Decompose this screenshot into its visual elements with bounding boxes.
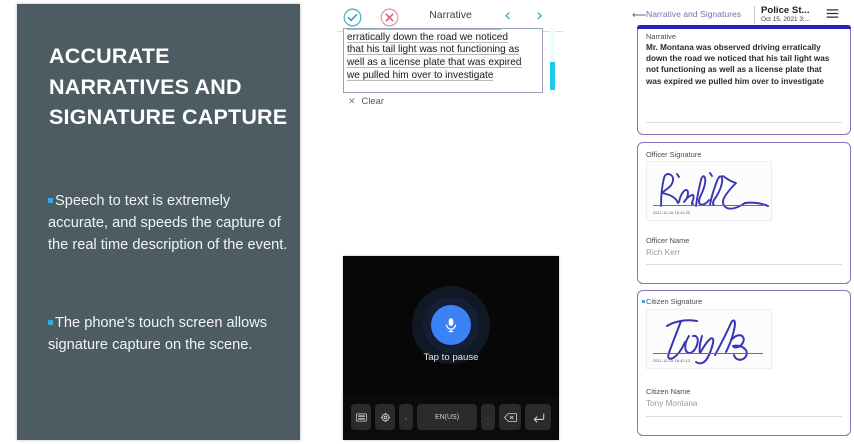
gear-icon[interactable] bbox=[375, 404, 395, 430]
narrative-line-3: well as a license plate that was expired bbox=[347, 57, 522, 68]
text-cursor bbox=[493, 69, 494, 79]
slide-bullet-1-text: Speech to text is extremely accurate, an… bbox=[48, 193, 287, 253]
narrative-line-4: we pulled him over to investigate bbox=[347, 70, 493, 81]
narrative-field-value: Mr. Montana was observed driving erratic… bbox=[646, 42, 836, 87]
citizen-name-value[interactable]: Tony Montana bbox=[646, 399, 697, 408]
comma-key[interactable]: , bbox=[399, 404, 413, 430]
slide-bullet-1: Speech to text is extremely accurate, an… bbox=[48, 190, 293, 257]
officer-signature-image[interactable]: 2021-10-15 16:41:20 bbox=[646, 161, 772, 221]
field-underline bbox=[646, 122, 842, 123]
signature-baseline bbox=[653, 353, 763, 354]
report-view-panel: ⟵ Narrative and Signatures Police St... … bbox=[628, 0, 854, 444]
back-arrow-icon[interactable]: ⟵ bbox=[632, 10, 646, 21]
header-divider bbox=[754, 6, 755, 24]
hamburger-menu-icon[interactable] bbox=[826, 6, 839, 24]
microphone-glyph bbox=[442, 316, 460, 334]
narrative-line-2: that his tail light was not functioning … bbox=[347, 44, 519, 55]
microphone-icon[interactable] bbox=[431, 305, 471, 345]
narrative-card[interactable]: Narrative Mr. Montana was observed drivi… bbox=[637, 25, 851, 135]
slide-bullet-2: The phone's touch screen allows signatur… bbox=[48, 312, 293, 356]
ime-switch-icon[interactable] bbox=[351, 404, 371, 430]
citizen-signature-image[interactable]: 2021-10-15 16:42:13 bbox=[646, 309, 772, 369]
previous-field-button[interactable]: ‹ bbox=[504, 5, 511, 26]
officer-signature-timestamp: 2021-10-15 16:41:20 bbox=[653, 211, 690, 215]
signature-baseline bbox=[653, 205, 763, 206]
narrative-field-label: Narrative bbox=[646, 32, 676, 41]
officer-signature-card[interactable]: Officer Signature 2021-10-15 16:41:20 bbox=[637, 142, 851, 284]
gear-glyph bbox=[380, 412, 391, 423]
citizen-signature-label: Citizen Signature bbox=[646, 297, 702, 306]
clear-button[interactable]: ✕Clear bbox=[348, 95, 384, 107]
enter-icon[interactable] bbox=[525, 404, 551, 430]
keyboard-bar: , EN(US) . bbox=[343, 396, 559, 440]
officer-signature-label: Officer Signature bbox=[646, 150, 701, 159]
report-header: ⟵ Narrative and Signatures Police St... … bbox=[628, 4, 842, 26]
close-x-icon: ✕ bbox=[348, 96, 356, 106]
toolbar-title: Narrative bbox=[338, 9, 563, 21]
next-field-button[interactable]: › bbox=[536, 5, 543, 26]
narrative-line-1: erratically down the road we noticed bbox=[347, 32, 508, 43]
field-underline bbox=[646, 416, 842, 417]
narrative-scrollbar-thumb[interactable] bbox=[550, 62, 555, 90]
page-title: ACCURATE NARRATIVES AND SIGNATURE CAPTUR… bbox=[49, 41, 294, 133]
narrative-line-0: Mr. Montana was observed driving bbox=[347, 28, 501, 30]
narrative-editor-panel: Narrative ‹ › Mr. Montana was observed d… bbox=[338, 0, 563, 444]
presentation-slide: ACCURATE NARRATIVES AND SIGNATURE CAPTUR… bbox=[17, 4, 300, 440]
document-date: Oct 15, 2021 3:... bbox=[761, 16, 810, 23]
narrative-text-content: Mr. Montana was observed driving erratic… bbox=[344, 28, 542, 83]
citizen-signature-card[interactable]: Citizen Signature 2021-10-15 16:42:13 Ci… bbox=[637, 290, 851, 436]
slide-bullet-2-text: The phone's touch screen allows signatur… bbox=[48, 315, 267, 353]
screenshot-root: ACCURATE NARRATIVES AND SIGNATURE CAPTUR… bbox=[0, 0, 854, 444]
card-accent-bar bbox=[637, 25, 851, 29]
backspace-icon[interactable] bbox=[499, 404, 521, 430]
hamburger-glyph bbox=[826, 8, 839, 19]
period-key[interactable]: . bbox=[481, 404, 495, 430]
citizen-signature-timestamp: 2021-10-15 16:42:13 bbox=[653, 359, 690, 363]
keyboard-glyph bbox=[356, 413, 367, 422]
officer-name-label: Officer Name bbox=[646, 236, 689, 245]
space-key[interactable]: EN(US) bbox=[417, 404, 477, 430]
officer-name-value[interactable]: Rich Kerr bbox=[646, 248, 680, 257]
required-marker-icon bbox=[642, 300, 645, 303]
voice-input-panel: Tap to pause bbox=[343, 256, 559, 440]
bullet-square-icon bbox=[48, 198, 53, 203]
bullet-square-icon bbox=[48, 320, 53, 325]
narrative-text-input[interactable]: Mr. Montana was observed driving erratic… bbox=[343, 28, 543, 93]
mic-caption: Tap to pause bbox=[343, 352, 559, 363]
breadcrumb[interactable]: Narrative and Signatures bbox=[646, 9, 741, 19]
field-underline bbox=[646, 264, 842, 265]
document-title: Police St... bbox=[761, 5, 810, 16]
enter-glyph bbox=[532, 412, 545, 423]
narrative-toolbar: Narrative ‹ › bbox=[338, 4, 563, 30]
citizen-name-label: Citizen Name bbox=[646, 387, 690, 396]
backspace-glyph bbox=[504, 413, 517, 422]
clear-label: Clear bbox=[362, 95, 384, 106]
